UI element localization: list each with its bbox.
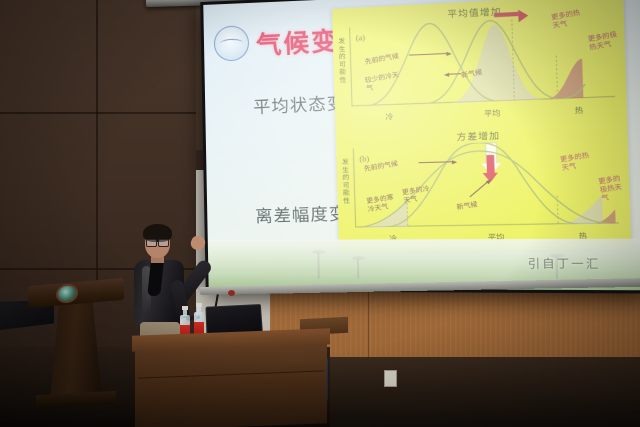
projector-glow [203,0,640,290]
wall-outlet-plate [384,370,397,387]
lectern-column [50,301,102,399]
microphone-head [228,290,235,296]
desk-front-panel [135,341,327,427]
lectern [28,282,124,402]
glasses-icon [146,239,169,245]
lecture-hall-scene: 气候变化 平均状态变化 离差幅度变化 平均值增加 (a) 发生的可能性 [0,0,640,427]
presenter-desk [132,332,330,427]
projection-screen[interactable]: 气候变化 平均状态变化 离差幅度变化 平均值增加 (a) 发生的可能性 [200,0,640,294]
presentation-slide: 气候变化 平均状态变化 离差幅度变化 平均值增加 (a) 发生的可能性 [203,0,640,290]
pointing-hand [189,234,207,252]
